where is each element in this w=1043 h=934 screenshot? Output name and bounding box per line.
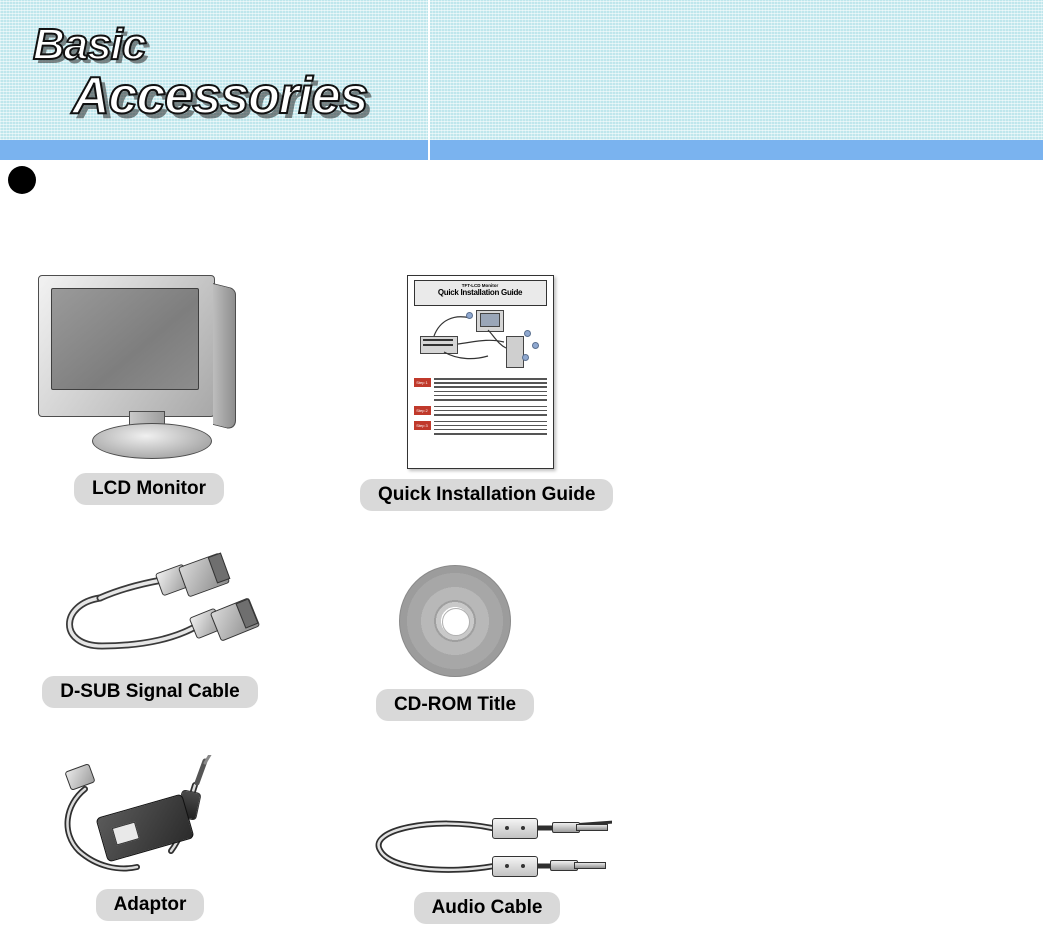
- accessory-item-d-sub-signal-cable: D-SUB Signal Cable: [30, 560, 270, 708]
- guide-step-text-lines: [434, 421, 547, 435]
- audio-plug-tip-top: [576, 824, 608, 831]
- caption-cd-rom-title: CD-ROM Title: [376, 689, 534, 721]
- accessory-item-adaptor: Adaptor: [40, 755, 260, 921]
- monitor-base: [92, 423, 212, 459]
- guide-step: Step 1: [414, 378, 547, 401]
- page-title-line-1: Basic: [33, 20, 145, 70]
- d-sub-signal-cable-illustration: [40, 560, 260, 670]
- accessory-item-lcd-monitor: LCD Monitor: [34, 275, 264, 505]
- guide-steps-area: Step 1 Step 2 Step 3: [414, 378, 547, 464]
- audio-ferrite-core-bottom: [492, 856, 538, 877]
- header-vertical-divider: [428, 0, 430, 140]
- guide-diagram-marker-3: [522, 354, 529, 361]
- audio-cable-illustration: [362, 800, 612, 890]
- section-bullet-icon: [8, 166, 36, 194]
- guide-diagram-area: [414, 308, 547, 374]
- header-blue-rule: [0, 140, 1043, 160]
- guide-diagram-marker-2: [532, 342, 539, 349]
- audio-ferrite-core-top: [492, 818, 538, 839]
- guide-header-box: TFT-LCD Monitor Quick Installation Guide: [414, 280, 547, 306]
- accessory-item-audio-cable: Audio Cable: [362, 800, 612, 924]
- guide-step: Step 3: [414, 421, 547, 435]
- guide-step-badge: Step 3: [414, 421, 431, 430]
- power-adaptor-illustration: [45, 755, 255, 885]
- page-title-line-2: Accessories: [72, 66, 367, 126]
- monitor-bezel: [38, 275, 215, 417]
- caption-adaptor: Adaptor: [96, 889, 205, 921]
- audio-plug-tip-bottom: [574, 862, 606, 869]
- accessory-item-cd-rom-title: CD-ROM Title: [340, 565, 570, 721]
- caption-d-sub-signal-cable: D-SUB Signal Cable: [42, 676, 257, 708]
- guide-diagram-marker-4: [466, 312, 473, 319]
- page-header-band: Basic Accessories: [0, 0, 1043, 140]
- accessory-item-quick-installation-guide: TFT-LCD Monitor Quick Installation Guide: [360, 275, 600, 511]
- audio-cable-wire: [362, 800, 612, 890]
- adaptor-brick-label: [112, 822, 140, 846]
- guide-step-badge: Step 1: [414, 378, 431, 387]
- quick-installation-guide-illustration: TFT-LCD Monitor Quick Installation Guide: [407, 275, 554, 469]
- caption-quick-installation-guide: Quick Installation Guide: [360, 479, 613, 511]
- guide-title-large: Quick Installation Guide: [415, 288, 546, 297]
- header-blue-rule-divider: [428, 140, 430, 160]
- cd-rom-disc-illustration: [399, 565, 511, 677]
- lcd-monitor-illustration: [34, 275, 264, 465]
- guide-diagram-marker-1: [524, 330, 531, 337]
- guide-step-text-lines: [434, 378, 547, 401]
- guide-step-badge: Step 2: [414, 406, 431, 415]
- guide-step: Step 2: [414, 406, 547, 416]
- caption-audio-cable: Audio Cable: [414, 892, 561, 924]
- caption-lcd-monitor: LCD Monitor: [74, 473, 224, 505]
- page-title: Basic Accessories: [30, 18, 430, 128]
- monitor-screen: [51, 288, 199, 390]
- guide-diagram-cable-paths: [414, 308, 547, 374]
- guide-step-text-lines: [434, 406, 547, 416]
